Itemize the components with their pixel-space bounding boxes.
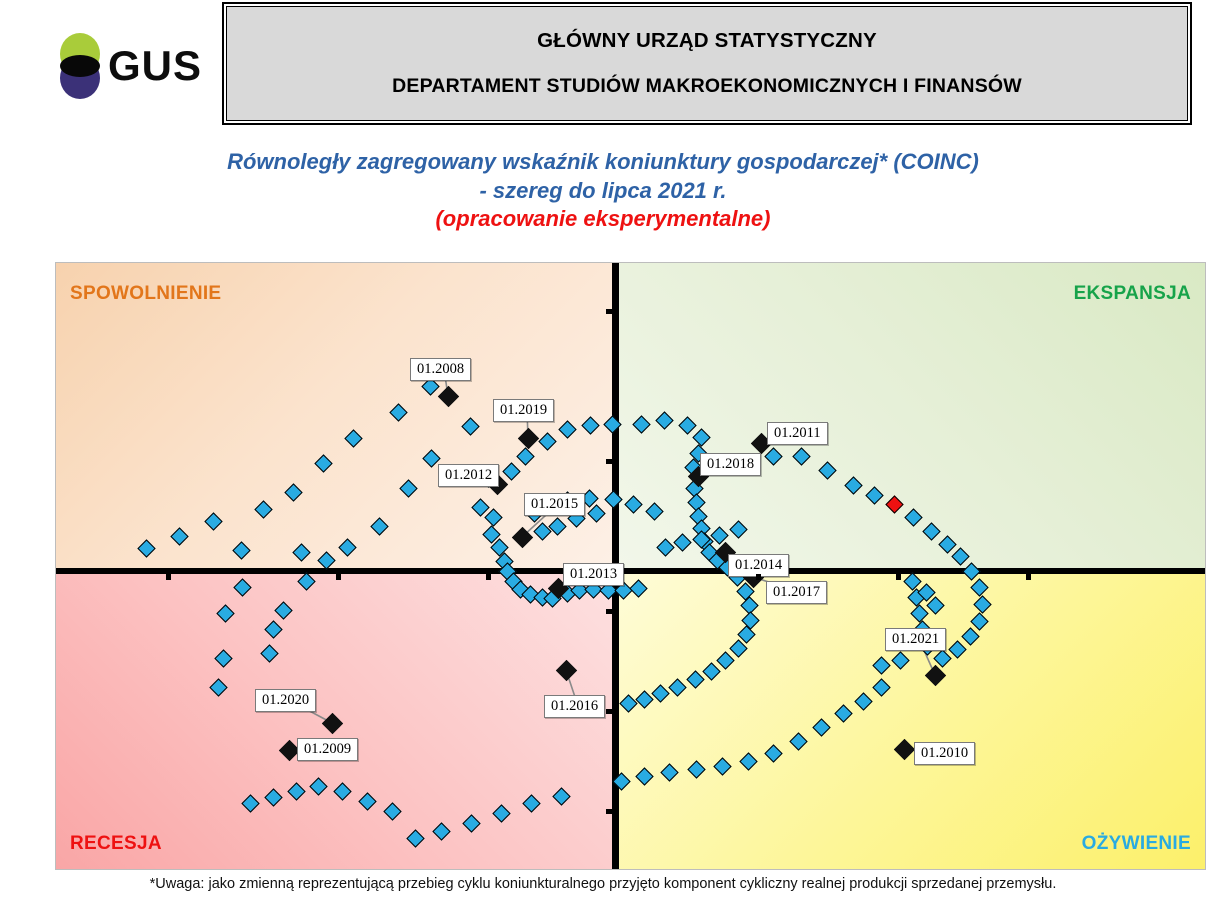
svg-text:GUS: GUS (108, 42, 202, 89)
header-title-box: GŁÓWNY URZĄD STATYSTYCZNY DEPARTAMENT ST… (226, 6, 1188, 121)
page-header: GUS GŁÓWNY URZĄD STATYSTYCZNY DEPARTAMEN… (0, 0, 1206, 140)
point-label-01-2020: 01.2020 (255, 689, 316, 712)
department-name: DEPARTAMENT STUDIÓW MAKROEKONOMICZNYCH I… (392, 75, 1022, 98)
point-label-01-2021: 01.2021 (885, 628, 946, 651)
axis-tick (606, 809, 612, 814)
horizontal-axis (56, 568, 1206, 574)
point-label-01-2015: 01.2015 (524, 493, 585, 516)
quadrant-label-recovery: OŻYWIENIE (1082, 833, 1191, 855)
point-label-01-2009: 01.2009 (297, 738, 358, 761)
axis-tick (336, 574, 341, 580)
point-label-01-2010: 01.2010 (914, 742, 975, 765)
point-label-01-2017: 01.2017 (766, 581, 827, 604)
chart-title-block: Równoległy zagregowany wskaźnik koniunkt… (0, 148, 1206, 234)
institution-name: GŁÓWNY URZĄD STATYSTYCZNY (537, 29, 877, 53)
coinc-cycle-chart: SPOWOLNIENIE EKSPANSJA RECESJA OŻYWIENIE… (55, 262, 1206, 870)
footnote: *Uwaga: jako zmienną reprezentującą prze… (0, 876, 1206, 892)
axis-tick (606, 459, 612, 464)
axis-tick (1026, 574, 1031, 580)
quadrant-label-slowdown: SPOWOLNIENIE (70, 283, 221, 305)
axis-tick (606, 309, 612, 314)
point-label-01-2013: 01.2013 (563, 563, 624, 586)
point-label-01-2018: 01.2018 (700, 453, 761, 476)
axis-tick (756, 574, 761, 580)
axis-tick (896, 574, 901, 580)
axis-tick (606, 609, 612, 614)
point-label-01-2019: 01.2019 (493, 399, 554, 422)
chart-title-line1: Równoległy zagregowany wskaźnik koniunkt… (0, 148, 1206, 177)
point-label-01-2012: 01.2012 (438, 464, 499, 487)
point-label-01-2008: 01.2008 (410, 358, 471, 381)
point-label-01-2016: 01.2016 (544, 695, 605, 718)
chart-title-line2: - szereg do lipca 2021 r. (0, 177, 1206, 206)
axis-tick (486, 574, 491, 580)
gus-logo: GUS (52, 30, 202, 102)
quadrant-label-expansion: EKSPANSJA (1074, 283, 1191, 305)
gus-two-circles-logo: GUS (52, 30, 202, 102)
quadrant-recovery (614, 571, 1206, 870)
axis-tick (606, 709, 612, 714)
quadrant-label-recession: RECESJA (70, 833, 162, 855)
chart-title-line3: (opracowanie eksperymentalne) (0, 205, 1206, 234)
axis-tick (166, 574, 171, 580)
point-label-01-2011: 01.2011 (767, 422, 828, 445)
